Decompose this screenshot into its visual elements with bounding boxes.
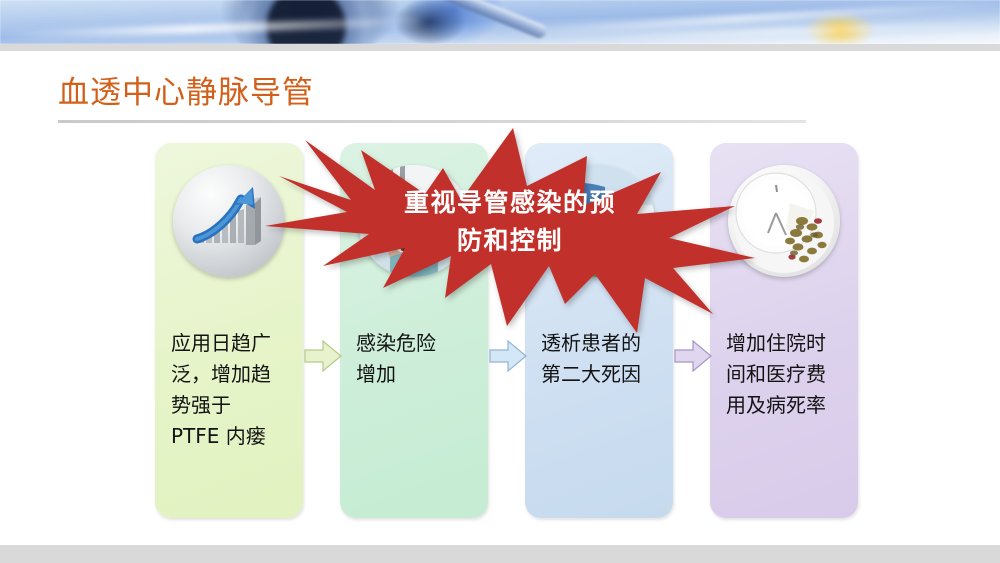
header-divider bbox=[0, 44, 1000, 51]
arrow-right-blue bbox=[488, 339, 528, 373]
header-banner-image bbox=[0, 0, 1000, 44]
page-title: 血透中心静脉导管 bbox=[58, 74, 314, 112]
starburst-callout[interactable]: 重视导管感染的预 防和控制 bbox=[265, 128, 755, 333]
flow-step-4-label: 增加住院时 间和医疗费 用及病死率 bbox=[726, 328, 850, 421]
arrow-right-green bbox=[303, 339, 343, 373]
title-underline-rule bbox=[58, 120, 806, 123]
flow-step-2-label: 感染危险 增加 bbox=[356, 328, 480, 390]
page-title-text: 血透中心静脉导管 bbox=[58, 74, 314, 112]
flow-step-1-label: 应用日趋广 泛，增加趋 势强于 PTFE 内瘘 bbox=[171, 328, 295, 452]
slide-canvas: 血透中心静脉导管 bbox=[0, 0, 1000, 563]
footer-bar bbox=[0, 545, 1000, 563]
arrow-right-purple bbox=[673, 339, 713, 373]
flow-step-3-label: 透析患者的 第二大死因 bbox=[541, 328, 665, 390]
